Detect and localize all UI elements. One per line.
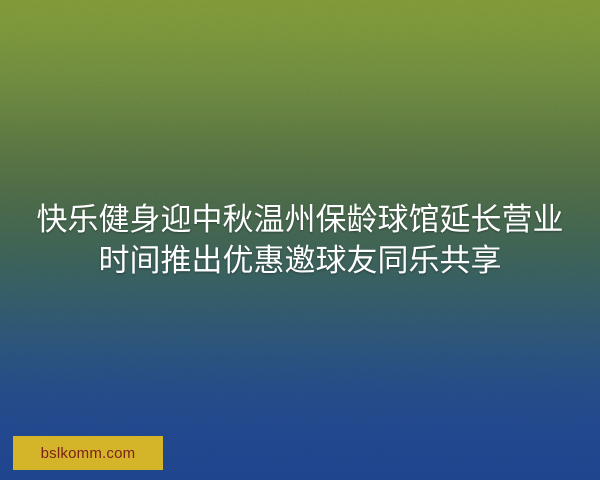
banner-image: 快乐健身迎中秋温州保龄球馆延长营业时间推出优惠邀球友同乐共享 bslkomm.c… [0, 0, 600, 480]
watermark-badge: bslkomm.com [13, 436, 163, 470]
headline-text: 快乐健身迎中秋温州保龄球馆延长营业时间推出优惠邀球友同乐共享 [0, 199, 600, 281]
watermark-label: bslkomm.com [41, 446, 136, 461]
